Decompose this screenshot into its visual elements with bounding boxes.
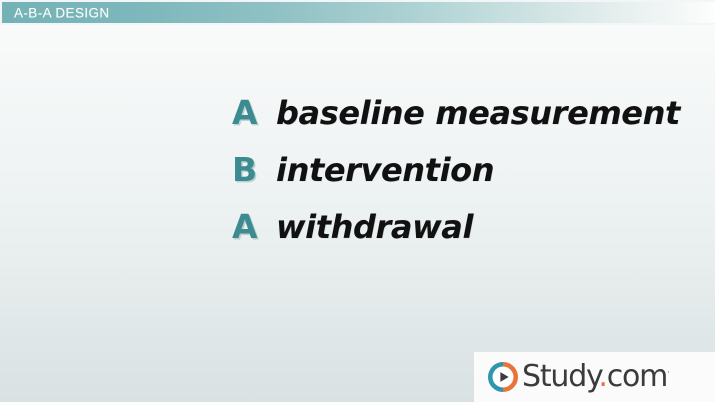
study-com-wordmark: Study.com· bbox=[522, 362, 670, 392]
list-item: B intervention bbox=[232, 153, 702, 210]
list-item: A withdrawal bbox=[232, 210, 702, 267]
play-circle-icon bbox=[488, 362, 518, 392]
slide-canvas: A-B-A DESIGN A baseline measurement B in… bbox=[0, 0, 715, 402]
study-com-logo: Study.com· bbox=[474, 352, 715, 402]
list-item-letter: A bbox=[232, 210, 276, 243]
logo-dot: . bbox=[598, 359, 606, 394]
aba-design-list: A baseline measurement B intervention A … bbox=[232, 96, 702, 267]
list-item-label: baseline measurement bbox=[276, 97, 680, 129]
logo-brand-text: Study bbox=[522, 359, 598, 394]
list-item-label: intervention bbox=[276, 154, 494, 186]
page-title: A-B-A DESIGN bbox=[14, 6, 110, 20]
list-item-label: withdrawal bbox=[276, 211, 473, 243]
list-item-letter: A bbox=[232, 96, 276, 129]
logo-trademark: · bbox=[667, 368, 670, 378]
logo-tld-text: com bbox=[607, 359, 667, 394]
title-bar: A-B-A DESIGN bbox=[2, 2, 715, 23]
list-item: A baseline measurement bbox=[232, 96, 702, 153]
title-bar-container: A-B-A DESIGN bbox=[0, 0, 715, 25]
list-item-letter: B bbox=[232, 153, 276, 186]
